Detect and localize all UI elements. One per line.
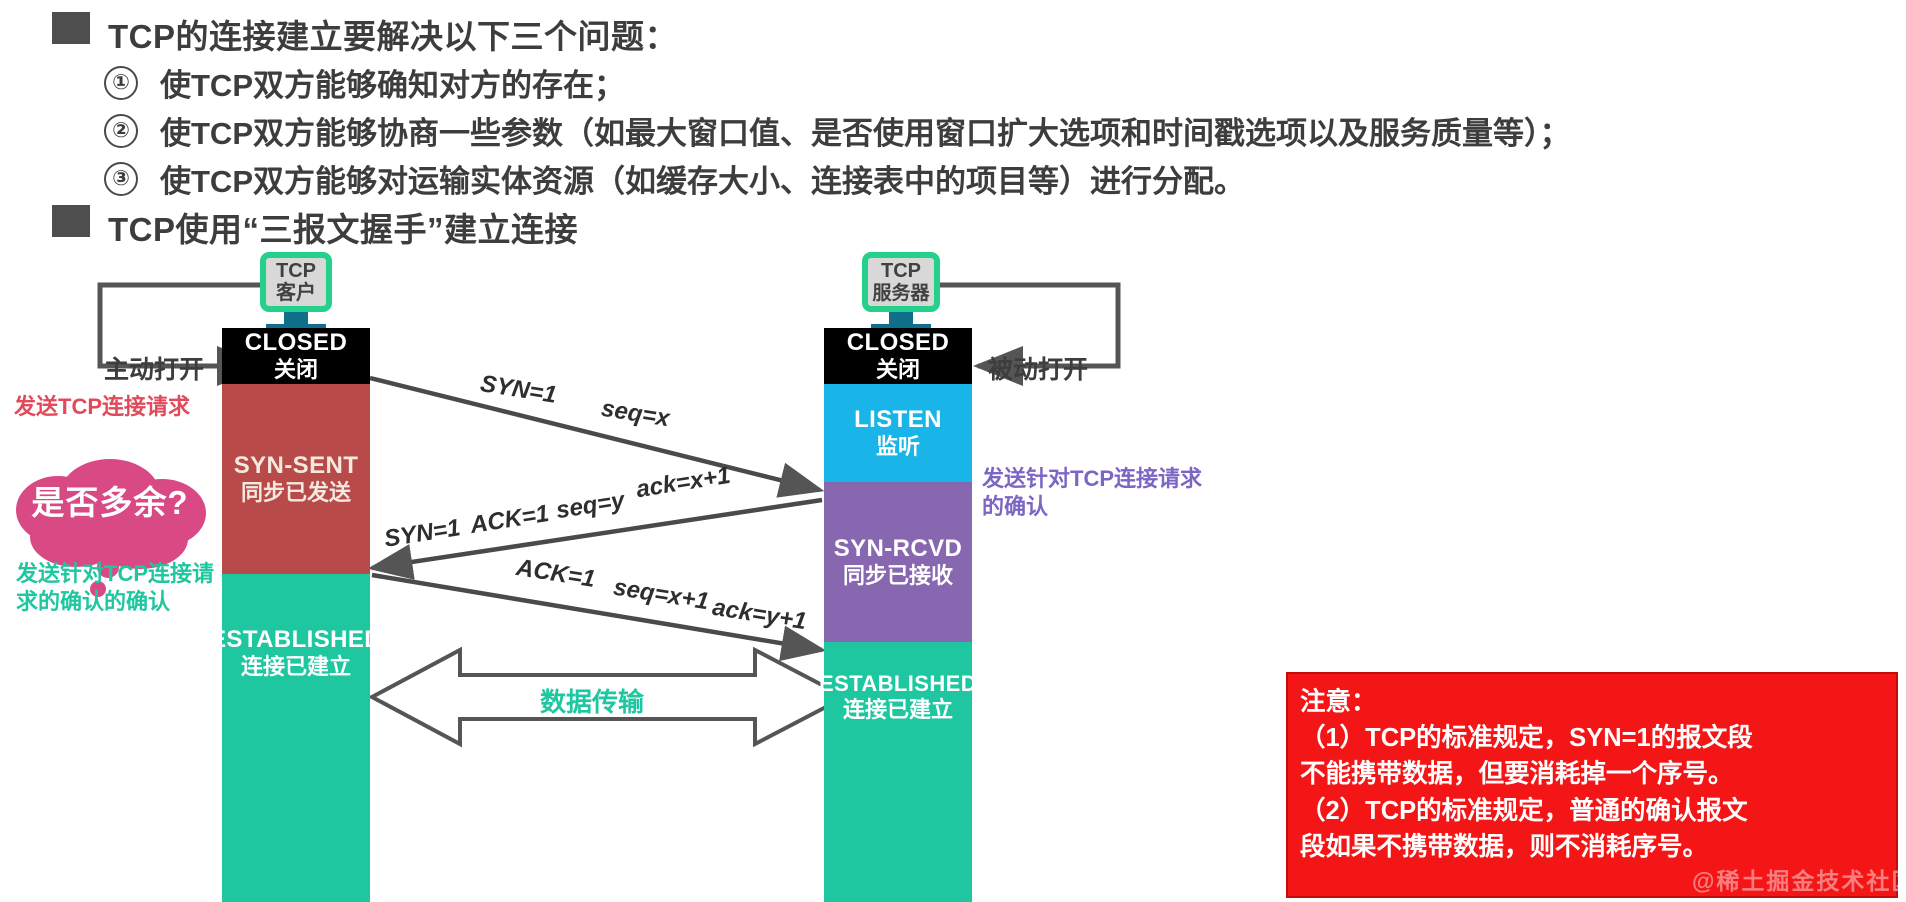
state-cn: 连接已建立 bbox=[843, 697, 953, 723]
data-transfer-label: 数据传输 bbox=[540, 682, 644, 719]
server-icon-line1: TCP bbox=[881, 260, 921, 282]
state-cn: 同步已接收 bbox=[843, 563, 953, 589]
server-icon-line2: 服务器 bbox=[872, 283, 929, 304]
bullet-square-2 bbox=[52, 205, 90, 237]
state-cn: 关闭 bbox=[274, 357, 318, 383]
heading-1: TCP的连接建立要解决以下三个问题： bbox=[108, 10, 678, 58]
server-state-established: ESTABLISHED 连接已建立 bbox=[824, 642, 972, 902]
list-number: ③ bbox=[104, 162, 138, 196]
server-state-closed: CLOSED 关闭 bbox=[824, 328, 972, 384]
attention-line-2: 不能携带数据，但要消耗掉一个序号。 bbox=[1300, 756, 1884, 792]
list-number: ② bbox=[104, 114, 138, 148]
client-stand-neck bbox=[284, 312, 308, 324]
client-icon: TCP 客户 bbox=[260, 252, 332, 312]
list-text: 使TCP双方能够对运输实体资源（如缓存大小、连接表中的项目等）进行分配。 bbox=[160, 156, 1245, 201]
state-en: SYN-SENT bbox=[234, 452, 359, 480]
state-cn: 监听 bbox=[876, 434, 920, 460]
heading-2: TCP使用“三报文握手”建立连接 bbox=[108, 203, 578, 251]
state-en: ESTABLISHED bbox=[210, 626, 382, 654]
thought-cloud: 是否多余? bbox=[10, 455, 210, 560]
watermark: @稀土掘金技术社区 bbox=[1692, 862, 1906, 896]
list-number: ① bbox=[104, 66, 138, 100]
client-icon-line2: 客户 bbox=[276, 282, 316, 304]
list-item: ② 使TCP双方能够协商一些参数（如最大窗口值、是否使用窗口扩大选项和时间戳选项… bbox=[104, 108, 1571, 153]
state-en: CLOSED bbox=[847, 329, 949, 357]
state-en: CLOSED bbox=[245, 329, 347, 357]
server-stand-neck bbox=[889, 312, 913, 324]
attention-title: 注意： bbox=[1300, 684, 1884, 720]
list-text: 使TCP双方能够确知对方的存在； bbox=[160, 60, 625, 105]
client-state-established: ESTABLISHED 连接已建立 bbox=[222, 574, 370, 902]
client-state-closed: CLOSED 关闭 bbox=[222, 328, 370, 384]
server-open-label: 被动打开 bbox=[988, 350, 1088, 386]
server-state-listen: LISTEN 监听 bbox=[824, 384, 972, 482]
server-state-syn-rcvd: SYN-RCVD 同步已接收 bbox=[824, 482, 972, 642]
annotation-ack-of-ack: 发送针对TCP连接请 求的确认的确认 bbox=[16, 560, 214, 615]
annotation-send-request: 发送TCP连接请求 bbox=[14, 393, 190, 421]
client-state-syn-sent: SYN-SENT 同步已发送 bbox=[222, 384, 370, 574]
server-icon: TCP 服务器 bbox=[862, 252, 940, 312]
attention-line-3: （2）TCP的标准规定，普通的确认报文 bbox=[1300, 793, 1884, 829]
state-en: ESTABLISHED bbox=[819, 671, 977, 697]
state-en: LISTEN bbox=[854, 406, 942, 434]
state-en: SYN-RCVD bbox=[834, 535, 963, 563]
state-cn: 关闭 bbox=[876, 357, 920, 383]
state-cn: 同步已发送 bbox=[241, 480, 351, 506]
client-icon-line1: TCP bbox=[276, 260, 316, 282]
attention-line-1: （1）TCP的标准规定，SYN=1的报文段 bbox=[1300, 720, 1884, 756]
slide-page: TCP的连接建立要解决以下三个问题： ① 使TCP双方能够确知对方的存在； ② … bbox=[0, 0, 1906, 902]
list-item: ③ 使TCP双方能够对运输实体资源（如缓存大小、连接表中的项目等）进行分配。 bbox=[104, 156, 1245, 201]
state-cn: 连接已建立 bbox=[241, 654, 351, 680]
list-text: 使TCP双方能够协商一些参数（如最大窗口值、是否使用窗口扩大选项和时间戳选项以及… bbox=[160, 108, 1571, 153]
attention-line-4: 段如果不携带数据，则不消耗序号。 bbox=[1300, 829, 1884, 865]
annotation-server-ack: 发送针对TCP连接请求 的确认 bbox=[982, 465, 1202, 520]
bullet-square-1 bbox=[52, 12, 90, 44]
client-open-label: 主动打开 bbox=[104, 350, 204, 386]
list-item: ① 使TCP双方能够确知对方的存在； bbox=[104, 60, 625, 105]
